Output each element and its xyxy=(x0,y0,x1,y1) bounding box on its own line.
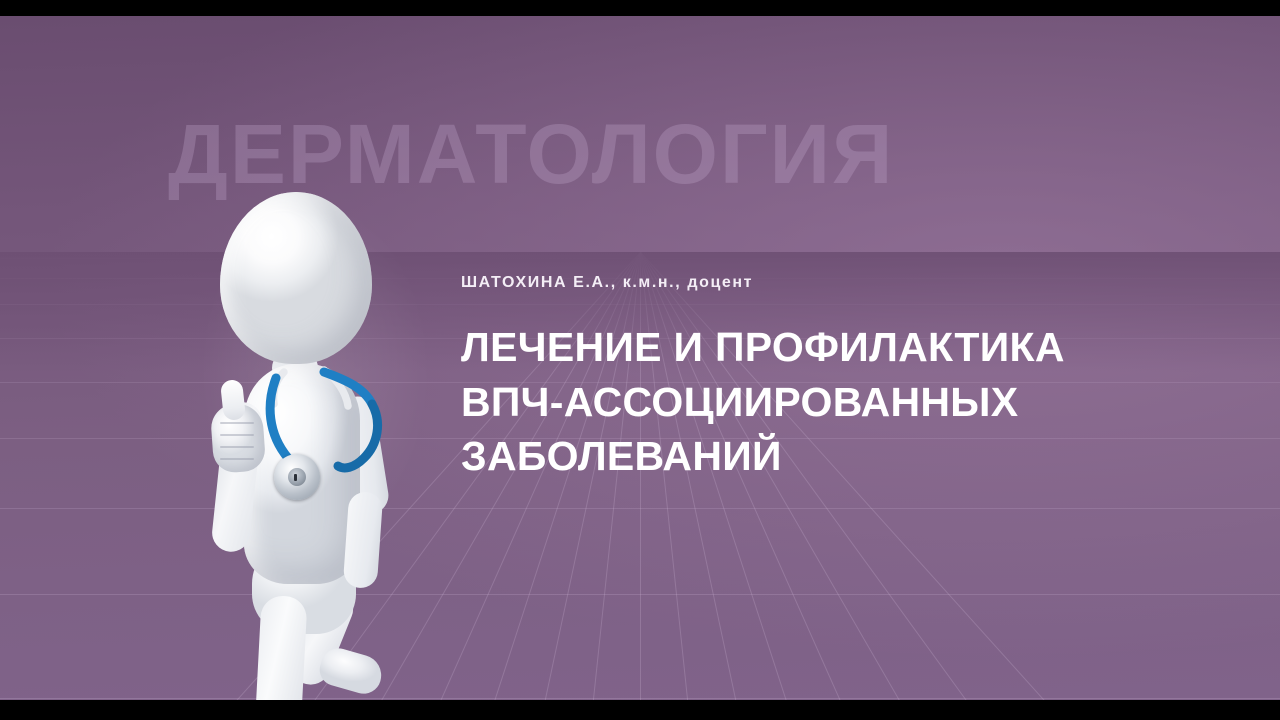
slide-stage: ДЕРМАТОЛОГИЯ xyxy=(0,16,1280,700)
author-line: ШАТОХИНА Е.А., к.м.н., доцент xyxy=(461,274,1251,292)
stethoscope-chestpiece xyxy=(274,454,320,500)
video-frame: ДЕРМАТОЛОГИЯ xyxy=(0,0,1280,720)
slide-text-block: ШАТОХИНА Е.А., к.м.н., доцент ЛЕЧЕНИЕ И … xyxy=(461,274,1251,484)
title-line-3: ЗАБОЛЕВАНИЙ xyxy=(461,429,1251,484)
letterbox-bar-bottom xyxy=(0,700,1280,720)
stethoscope-icon xyxy=(196,166,436,686)
letterbox-bar-top xyxy=(0,0,1280,16)
doctor-mascot-illustration xyxy=(196,166,436,686)
title-line-1: ЛЕЧЕНИЕ И ПРОФИЛАКТИКА xyxy=(461,320,1251,375)
title-line-2: ВПЧ-АССОЦИИРОВАННЫХ xyxy=(461,375,1251,430)
stethoscope-chestpiece-pin xyxy=(294,474,297,481)
